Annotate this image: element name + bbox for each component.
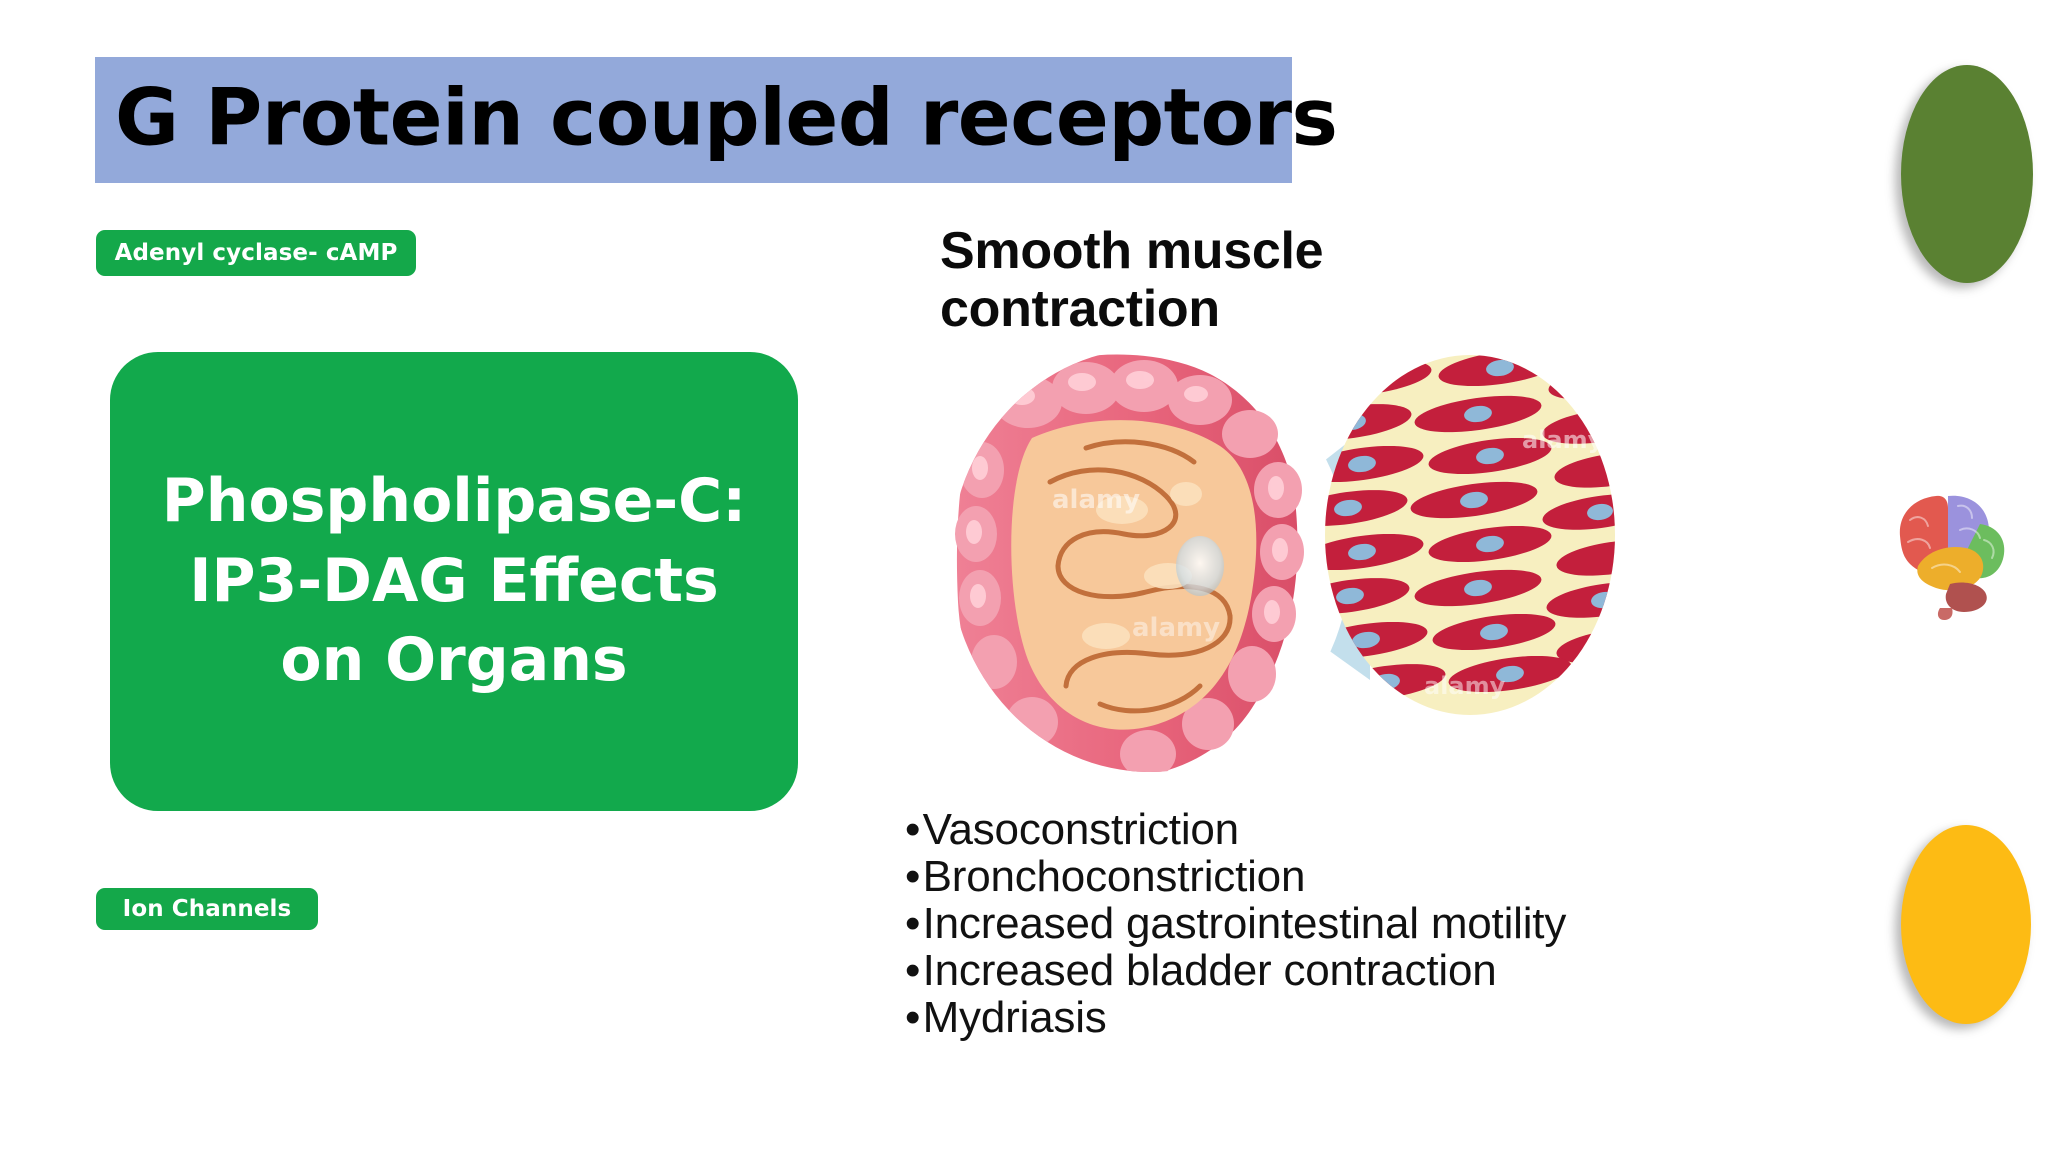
list-item: •Increased bladder contraction	[905, 947, 1805, 994]
phospholipase-c-box-line-3: on Organs	[280, 621, 627, 701]
page-title: G Protein coupled receptors	[115, 79, 1337, 157]
watermark-text: alamy	[1132, 613, 1220, 643]
brain-icon	[1892, 480, 2024, 620]
bullet-marker-icon: •	[905, 947, 923, 994]
tag-adenyl-cyclase-camp-label: Adenyl cyclase- cAMP	[115, 240, 398, 266]
intestine-smooth-muscle-icon: alamy alamy	[900, 330, 1640, 790]
bullet-marker-icon: •	[905, 806, 923, 853]
list-item: •Bronchoconstriction	[905, 853, 1805, 900]
list-item: •Mydriasis	[905, 994, 1805, 1041]
bullet-marker-icon: •	[905, 994, 923, 1041]
list-item-label: Mydriasis	[923, 993, 1107, 1042]
list-item: •Increased gastrointestinal motility	[905, 900, 1805, 947]
watermark-text: alamy	[1052, 485, 1140, 515]
intestine-smooth-muscle-illustration: alamy alamy	[900, 330, 1640, 790]
tag-ion-channels-label: Ion Channels	[123, 896, 292, 922]
watermark-text: alamy	[1522, 426, 1604, 454]
list-item-label: Increased bladder contraction	[923, 946, 1497, 995]
green-ellipse-decoration	[1901, 65, 2033, 283]
list-item: •Vasoconstriction	[905, 806, 1805, 853]
list-item-label: Vasoconstriction	[923, 805, 1239, 854]
bullet-marker-icon: •	[905, 853, 923, 900]
effects-bullet-list: •Vasoconstriction •Bronchoconstriction •…	[905, 806, 1805, 1041]
list-item-label: Increased gastrointestinal motility	[923, 899, 1567, 948]
phospholipase-c-box: Phospholipase-C: IP3-DAG Effects on Orga…	[110, 352, 798, 811]
brain-illustration-decoration	[1892, 480, 2024, 620]
smooth-muscle-contraction-heading: Smooth muscle contraction	[940, 222, 1500, 338]
list-item-label: Bronchoconstriction	[923, 852, 1306, 901]
tag-adenyl-cyclase-camp: Adenyl cyclase- cAMP	[96, 230, 416, 276]
phospholipase-c-box-line-2: IP3-DAG Effects	[189, 542, 719, 622]
yellow-ellipse-decoration	[1901, 825, 2031, 1024]
title-banner: G Protein coupled receptors	[95, 57, 1292, 183]
watermark-text: alamy	[1424, 672, 1506, 700]
phospholipase-c-box-line-1: Phospholipase-C:	[162, 462, 746, 542]
bullet-marker-icon: •	[905, 900, 923, 947]
tag-ion-channels: Ion Channels	[96, 888, 318, 930]
